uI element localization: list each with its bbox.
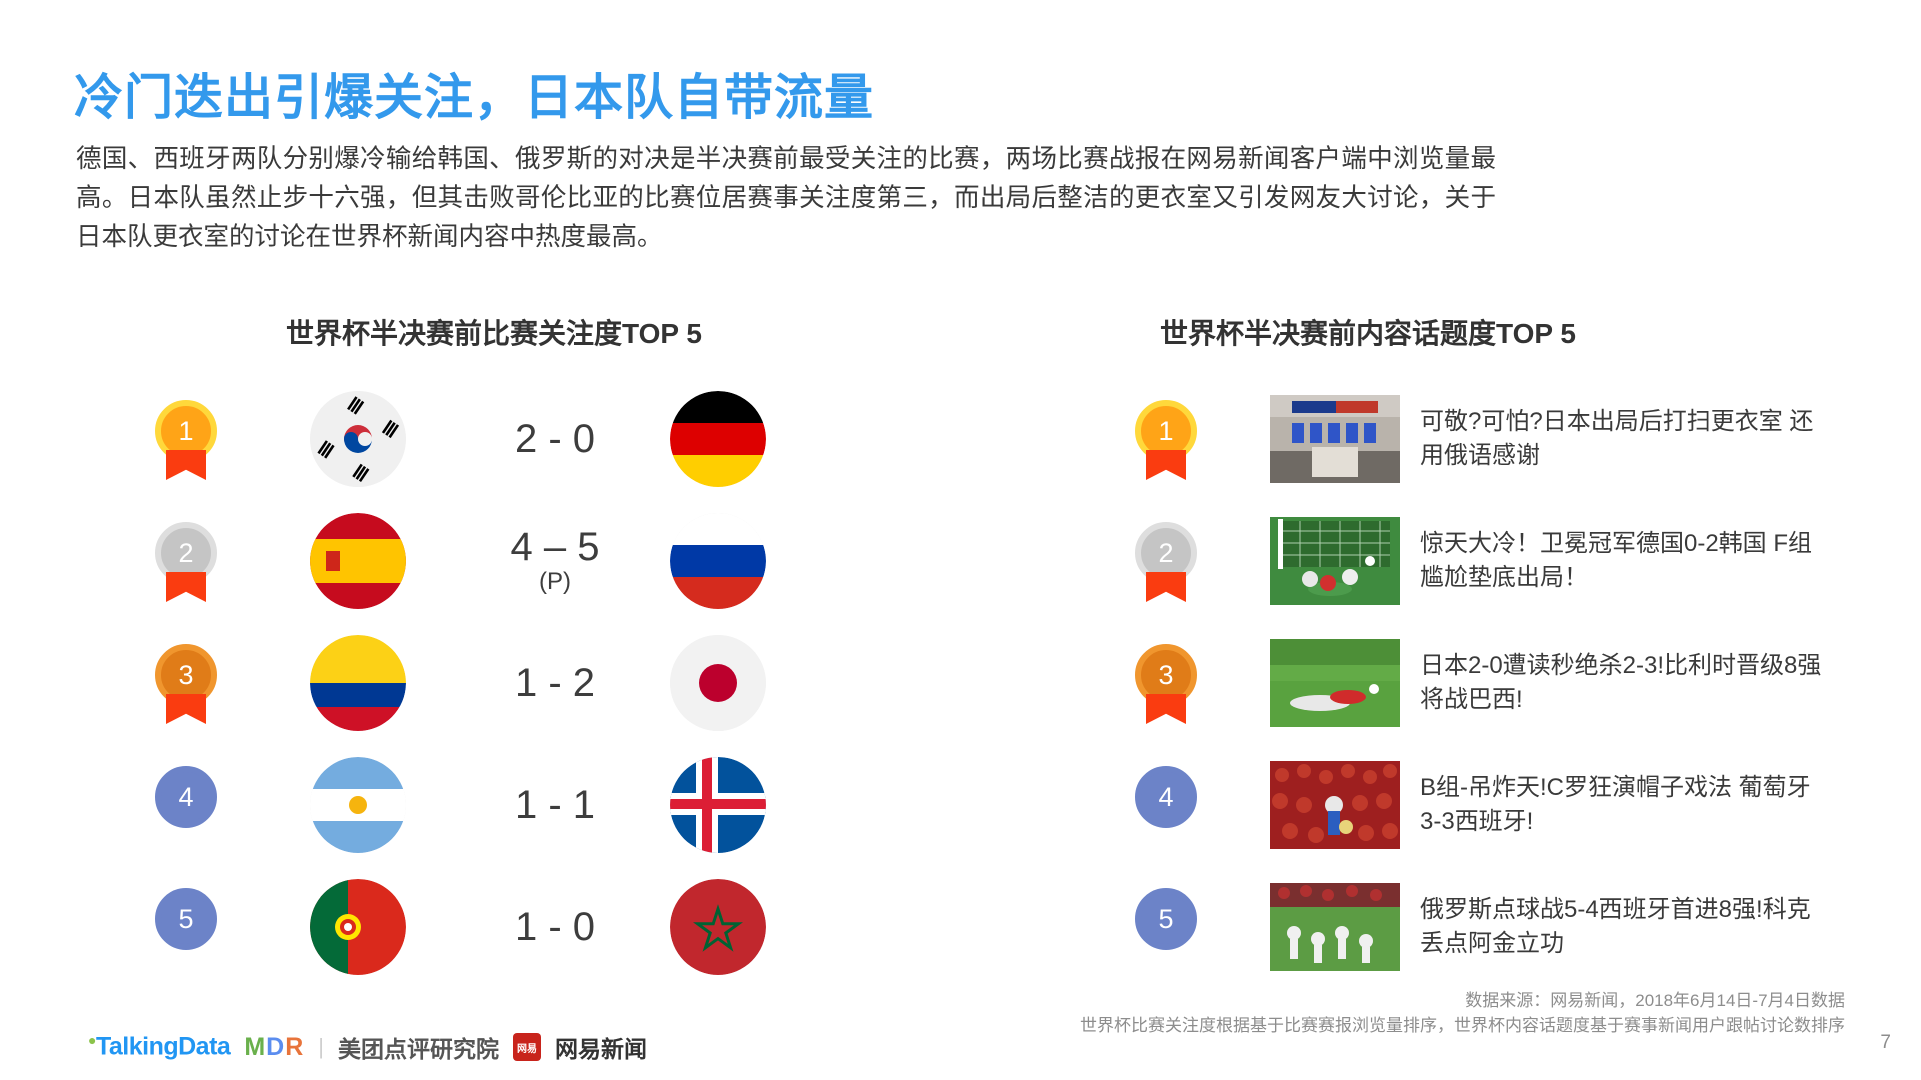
rank-number: 4 [1135, 766, 1197, 828]
source-note: 数据来源：网易新闻，2018年6月14日-7月4日数据 世界杯比赛关注度根据基于… [1080, 988, 1845, 1038]
flag-argentina-icon [310, 757, 406, 853]
rank-badge-3: 3 [155, 644, 217, 722]
match-row[interactable]: 2 4 – 5 (P) [110, 500, 870, 622]
meituan-logo-text: 美团点评研究院 [338, 1030, 499, 1064]
rank-number: 5 [155, 888, 217, 950]
news-row[interactable]: 2 惊天大冷！卫冕冠军德国0-2韩国 F组尴尬垫底出局！ [1090, 500, 1850, 622]
source-line-1: 数据来源：网易新闻，2018年6月14日-7月4日数据 [1080, 988, 1845, 1013]
lede-paragraph: 德国、西班牙两队分别爆冷输给韩国、俄罗斯的对决是半决赛前最受关注的比赛，两场比赛… [76, 140, 1496, 257]
score-value: 1 - 1 [515, 783, 595, 827]
match-row[interactable]: 3 1 - 2 [110, 622, 870, 744]
news-headline[interactable]: 日本2-0遭读秒绝杀2-3!比利时晋级8强将战巴西! [1420, 649, 1830, 717]
talkingdata-logo-text: TalkingData [96, 1033, 230, 1061]
news-row[interactable]: 5 俄罗斯点球战5-4西班牙首进8强!科克丢点阿金立功 [1090, 866, 1850, 988]
score-value: 1 - 2 [515, 661, 595, 705]
netease-badge-icon: 网易 [513, 1033, 541, 1061]
celebration-photo[interactable] [1270, 883, 1400, 971]
rank-badge-5: 5 [155, 888, 217, 966]
news-row[interactable]: 1 可敬?可怕?日本出局后打扫更衣室 还用俄语感谢 [1090, 378, 1850, 500]
netease-logo-text: 网易新闻 [555, 1030, 647, 1064]
score-value: 2 - 0 [515, 417, 595, 461]
page-number: 7 [1880, 1032, 1891, 1054]
flag-colombia-icon [310, 635, 406, 731]
slide-root: 冷门迭出引爆关注，日本队自带流量 德国、西班牙两队分别爆冷输给韩国、俄罗斯的对决… [0, 0, 1921, 1080]
goalmouth-photo[interactable] [1270, 517, 1400, 605]
ribbon-icon [1146, 572, 1186, 602]
ribbon-icon [166, 450, 206, 480]
rank-badge-1: 1 [1135, 400, 1197, 478]
logo-bar: ●TalkingData MDR | 美团点评研究院 网易 网易新闻 [88, 1030, 647, 1064]
left-section-heading: 世界杯半决赛前比赛关注度TOP 5 [286, 312, 702, 352]
rank-badge-3: 3 [1135, 644, 1197, 722]
match-score: 4 – 5 (P) [440, 525, 670, 597]
match-row[interactable]: 4 1 - 1 [110, 744, 870, 866]
source-line-2: 世界杯比赛关注度根据基于比赛赛报浏览量排序，世界杯内容话题度基于赛事新闻用户跟帖… [1080, 1013, 1845, 1038]
talkingdata-logo: ●TalkingData [88, 1032, 230, 1061]
rank-badge-2: 2 [155, 522, 217, 600]
flag-korea-icon [310, 391, 406, 487]
mdr-logo: MDR [244, 1033, 304, 1062]
flag-iceland-icon [670, 757, 766, 853]
news-row[interactable]: 3 日本2-0遭读秒绝杀2-3!比利时晋级8强将战巴西! [1090, 622, 1850, 744]
flag-morocco-icon [670, 879, 766, 975]
rank-number: 5 [1135, 888, 1197, 950]
news-headline[interactable]: B组-吊炸天!C罗狂演帽子戏法 葡萄牙3-3西班牙! [1420, 771, 1830, 839]
rank-badge-5: 5 [1135, 888, 1197, 966]
match-ranking-list: 1 2 - 0 [110, 378, 870, 988]
match-row[interactable]: 1 2 - 0 [110, 378, 870, 500]
flag-russia-icon [670, 513, 766, 609]
rank-badge-2: 2 [1135, 522, 1197, 600]
ribbon-icon [1146, 694, 1186, 724]
pitch-tackle-photo[interactable] [1270, 639, 1400, 727]
news-headline[interactable]: 可敬?可怕?日本出局后打扫更衣室 还用俄语感谢 [1420, 405, 1830, 473]
news-headline[interactable]: 俄罗斯点球战5-4西班牙首进8强!科克丢点阿金立功 [1420, 893, 1830, 961]
right-section-heading: 世界杯半决赛前内容话题度TOP 5 [1160, 312, 1576, 352]
flag-germany-icon [670, 391, 766, 487]
page-title: 冷门迭出引爆关注，日本队自带流量 [74, 58, 874, 129]
rank-number: 4 [155, 766, 217, 828]
logo-dot-icon: ● [88, 1032, 96, 1048]
flag-japan-icon [670, 635, 766, 731]
penalty-note: (P) [440, 567, 670, 597]
score-value: 1 - 0 [515, 905, 595, 949]
match-score: 1 - 1 [440, 783, 670, 827]
news-ranking-list: 1 可敬?可怕?日本出局后打扫更衣室 还用俄语感谢 2 [1090, 378, 1850, 988]
match-score: 1 - 0 [440, 905, 670, 949]
ribbon-icon [166, 694, 206, 724]
rank-badge-4: 4 [155, 766, 217, 844]
rank-badge-1: 1 [155, 400, 217, 478]
logo-divider: | [318, 1034, 324, 1060]
match-score: 2 - 0 [440, 417, 670, 461]
flag-portugal-icon [310, 879, 406, 975]
flag-spain-icon [310, 513, 406, 609]
red-crowd-photo[interactable] [1270, 761, 1400, 849]
locker-room-photo[interactable] [1270, 395, 1400, 483]
match-row[interactable]: 5 1 - 0 [110, 866, 870, 988]
news-headline[interactable]: 惊天大冷！卫冕冠军德国0-2韩国 F组尴尬垫底出局！ [1420, 527, 1830, 595]
rank-badge-4: 4 [1135, 766, 1197, 844]
score-value: 4 – 5 [511, 525, 600, 569]
match-score: 1 - 2 [440, 661, 670, 705]
ribbon-icon [1146, 450, 1186, 480]
ribbon-icon [166, 572, 206, 602]
news-row[interactable]: 4 B组-吊炸天!C罗狂演帽子戏法 葡萄牙3-3西班牙! [1090, 744, 1850, 866]
